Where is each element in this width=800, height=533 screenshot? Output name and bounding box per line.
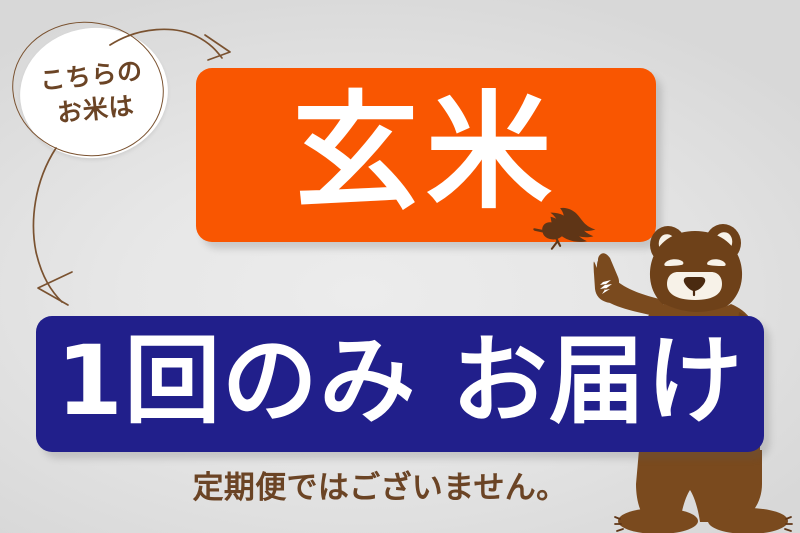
bear-head xyxy=(650,231,742,315)
blue-banner-text: 1回のみ お届け xyxy=(56,333,744,429)
orange-banner-text: 玄米 xyxy=(292,90,559,216)
bear-foot-right xyxy=(708,508,788,533)
bear-ear-right-inner xyxy=(711,230,735,257)
speech-bubble: こちらの お米は xyxy=(13,19,176,166)
promo-banner-canvas: 玄米 xyxy=(0,0,800,533)
bear-ear-right xyxy=(705,224,741,262)
paw-sparkle-icon xyxy=(600,280,612,294)
bear-nose-icon xyxy=(684,277,706,291)
bear-claws xyxy=(615,517,792,531)
bear-ear-left-inner xyxy=(656,232,680,259)
bear-arm-raised xyxy=(596,260,663,318)
bear-foot-left xyxy=(618,508,698,533)
subscription-note: 定期便ではございません。 xyxy=(0,462,760,507)
bear-muzzle xyxy=(667,272,722,300)
arrow-bottom-to-blue-banner xyxy=(33,148,72,305)
orange-banner: 玄米 xyxy=(196,68,656,242)
speech-bubble-line-2: お米は xyxy=(56,89,136,131)
bear-pointing-finger xyxy=(598,253,619,289)
bear-eye-left xyxy=(664,259,683,266)
blue-banner: 1回のみ お届け xyxy=(36,316,764,452)
bear-ear-left xyxy=(650,226,686,264)
bear-eye-right xyxy=(707,259,726,266)
bear-forearm xyxy=(594,262,620,303)
